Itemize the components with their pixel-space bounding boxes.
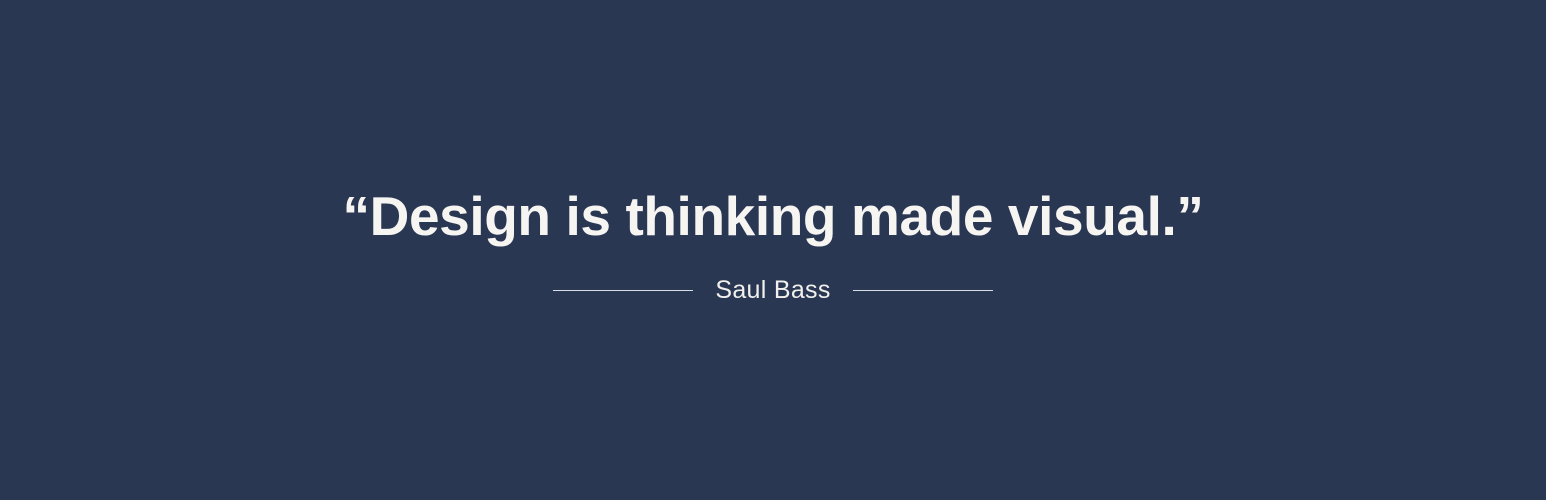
attribution-rule-left xyxy=(553,290,693,291)
attribution-rule-right xyxy=(853,290,993,291)
attribution-name: Saul Bass xyxy=(715,278,830,303)
quote-text: “Design is thinking made visual.” xyxy=(0,186,1546,248)
attribution: Saul Bass xyxy=(0,278,1546,303)
quote-card: “Design is thinking made visual.” Saul B… xyxy=(0,0,1546,500)
